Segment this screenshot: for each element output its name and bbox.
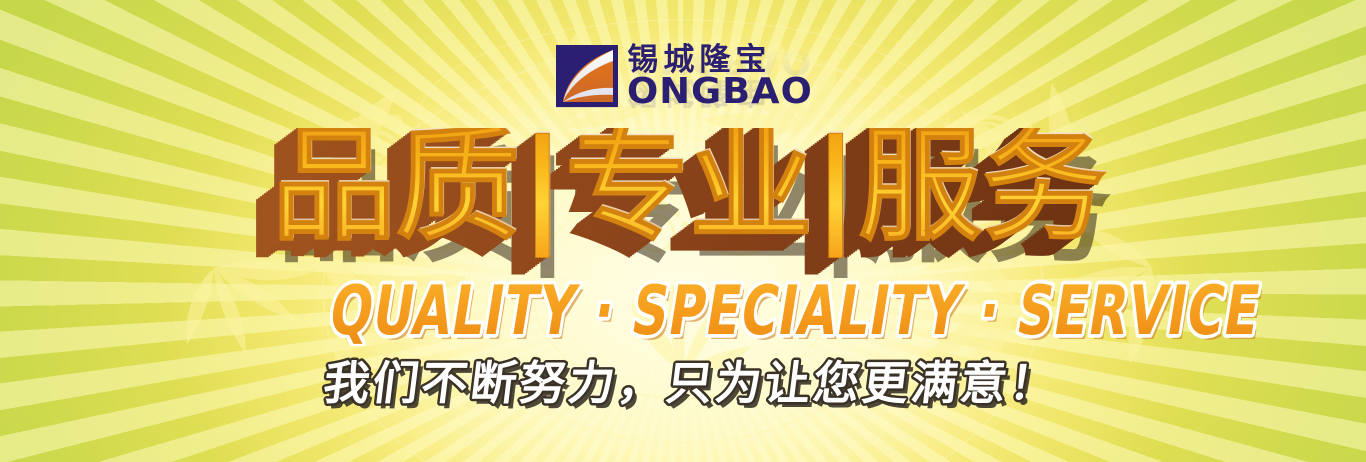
- tagline: 我们不断努力，只为让您更满意！ 我们不断努力，只为让您更满意！ 我们不断努力，只…: [0, 352, 1366, 422]
- tagline-text: 我们不断努力，只为让您更满意！: [321, 356, 1062, 410]
- headline-3d: 品质|专业|服务 品质|专业|服务 品质|专业|服务 品质|专业|服务 品质|专…: [0, 128, 1366, 274]
- longbao-sail-icon: [556, 45, 618, 107]
- headline-face: 品质|专业|服务: [272, 128, 1107, 258]
- promotional-banner: 锡城隆宝 ONGBAO 锡城隆宝 ONGBAO: [0, 0, 1366, 462]
- english-subline: QUALITY · SPECIALITY · SERVICE QUALITY ·…: [0, 271, 1366, 346]
- logo-english-name: ONGBAO: [627, 75, 813, 108]
- company-logo[interactable]: 锡城隆宝 ONGBAO 锡城隆宝 ONGBAO: [0, 44, 1366, 108]
- subline-text: QUALITY · SPECIALITY · SERVICE: [325, 271, 1267, 346]
